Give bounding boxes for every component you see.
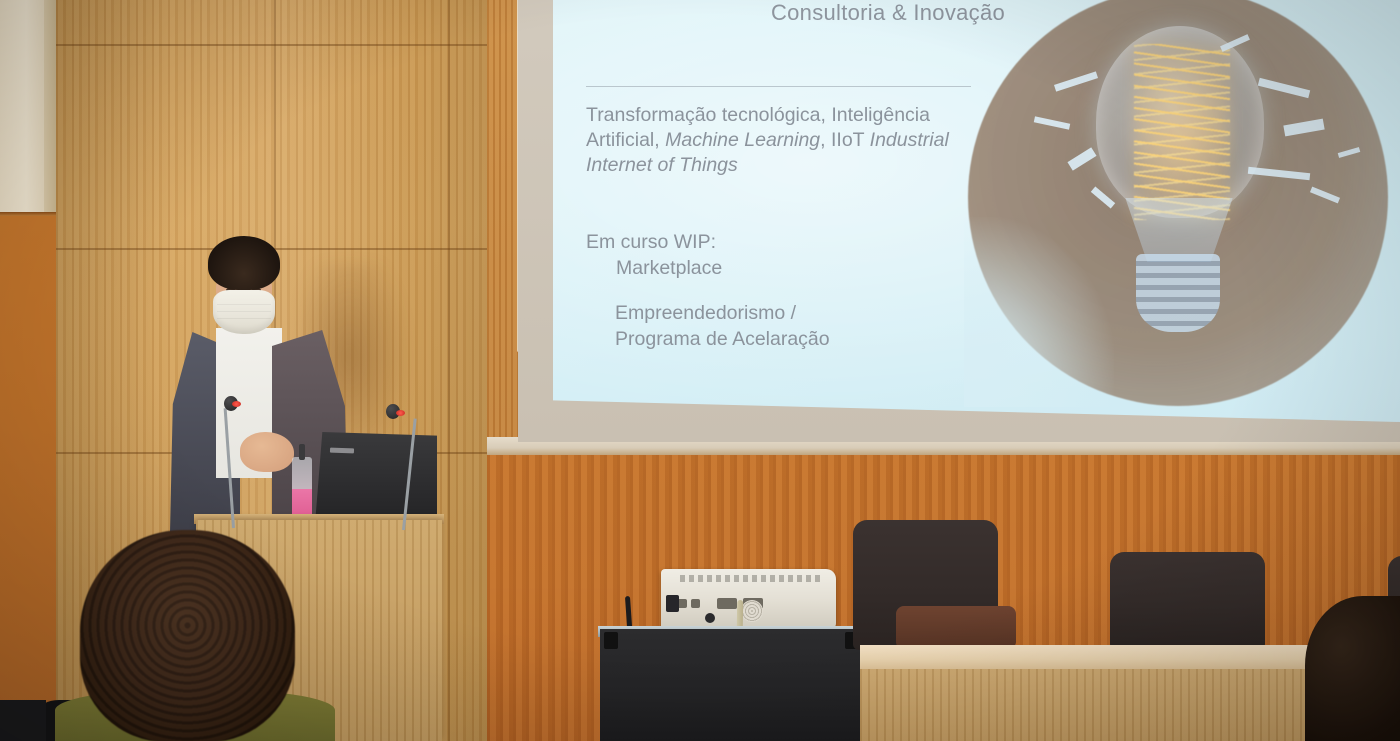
slide-line-4-italic: Things: [679, 154, 738, 176]
speaker-face-mask: [213, 290, 275, 334]
slide-title: Consultoria & Inovação: [678, 0, 1098, 26]
panel-seam: [448, 0, 450, 741]
projector-speaker-vent: [741, 600, 763, 622]
audience-member-curly-hair: [80, 530, 295, 741]
projection-screen: Consultoria & Inovação Transformação tec…: [553, 0, 1400, 422]
projector-power-socket: [666, 595, 679, 612]
hand-sanitizer-pump[interactable]: [299, 444, 305, 460]
slide-wip-item-marketplace: Marketplace: [586, 255, 986, 281]
projector-label-text: [680, 575, 820, 582]
slide-line-3-plain: , IIoT: [820, 129, 870, 151]
speaker-hair: [208, 236, 280, 290]
hand-sanitizer-label: [292, 489, 312, 514]
slide-entrepreneurship-line-2: Programa de Acelaração: [615, 328, 830, 350]
slide-line-3-italic-a: Learning: [744, 129, 820, 151]
audience-member-right: [1305, 596, 1400, 741]
audience-member-far-left: [0, 700, 46, 741]
left-wall-strip: [44, 0, 56, 218]
panel-seam: [56, 44, 516, 46]
leather-bag[interactable]: [896, 606, 1016, 648]
bulb-screw-base: [1136, 254, 1220, 332]
chair-center[interactable]: [1110, 552, 1265, 650]
speaker-clasped-hands: [240, 432, 294, 472]
projector-audio-jack: [705, 613, 715, 623]
slide-line-1: Transformação tecnológica,: [586, 104, 826, 126]
projector-vga-port: [717, 598, 737, 609]
slide-divider-rule: [586, 86, 971, 87]
slide-paragraph-wip: Em curso WIP: Marketplace: [586, 229, 986, 281]
slide-line-2-italic: Machine: [665, 129, 739, 151]
slide-wip-heading: Em curso WIP:: [586, 231, 716, 253]
microphone-right-led: [396, 410, 405, 416]
left-wainscot-panel: [0, 212, 56, 741]
slide-paragraph-technologies: Transformação tecnológica, Inteligência …: [586, 103, 986, 178]
laptop[interactable]: [315, 432, 437, 524]
lightbulb-artwork: [958, 0, 1400, 422]
laptop-logo: [330, 448, 354, 454]
microphone-left-led: [232, 401, 241, 407]
slide-entrepreneurship-line-1: Empreendedorismo /: [615, 302, 796, 324]
bulb-filament: [1134, 44, 1230, 220]
left-wall-cream: [0, 0, 44, 218]
slide-paragraph-entrepreneurship: Empreendedorismo / Programa de Acelaraçã…: [615, 300, 1015, 352]
projector-port: [691, 599, 700, 608]
case-latch-left[interactable]: [604, 632, 618, 649]
equipment-case: [600, 629, 866, 741]
presentation-photo-scene: Consultoria & Inovação Transformação tec…: [0, 0, 1400, 741]
